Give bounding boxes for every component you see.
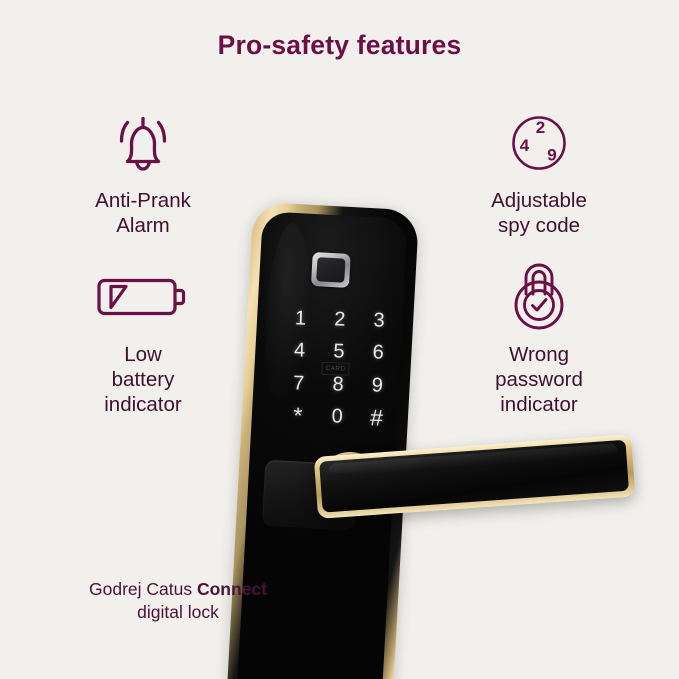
feature-label-adjustable-spy-code: Adjustable spy code <box>444 188 634 238</box>
spy-digit-left: 4 <box>520 136 530 155</box>
low-battery-icon <box>48 258 238 336</box>
key-4[interactable]: 4 <box>280 334 320 368</box>
feature-label-anti-prank-alarm: Anti-Prank Alarm <box>48 188 238 238</box>
product-brand-bold: Connect <box>197 579 267 599</box>
fingerprint-sensor[interactable] <box>311 252 351 288</box>
key-hash[interactable]: # <box>356 402 396 436</box>
product-feature-graphic: Pro-safety features Anti-Prank Alarm <box>0 0 679 679</box>
spy-digit-top: 2 <box>536 118 545 137</box>
feature-label-low-battery-indicator: Low battery indicator <box>48 342 238 417</box>
feature-adjustable-spy-code: 2 4 9 Adjustable spy code <box>444 104 634 238</box>
key-7[interactable]: 7 <box>279 367 319 401</box>
product-brand-line: Godrej Catus <box>89 579 197 599</box>
spy-digit-bottom-right: 9 <box>547 146 556 165</box>
key-0[interactable]: 0 <box>317 400 357 434</box>
key-1[interactable]: 1 <box>280 302 320 336</box>
bell-icon <box>48 104 238 182</box>
key-3[interactable]: 3 <box>359 304 399 338</box>
page-title: Pro-safety features <box>0 30 679 61</box>
padlock-check-icon <box>444 258 634 336</box>
spy-code-circle-icon: 2 4 9 <box>444 104 634 182</box>
product-caption: Godrej Catus Connect digital lock <box>38 578 318 624</box>
key-6[interactable]: 6 <box>358 337 398 371</box>
feature-wrong-password-indicator: Wrong password indicator <box>444 258 634 417</box>
feature-label-wrong-password-indicator: Wrong password indicator <box>444 342 634 417</box>
feature-anti-prank-alarm: Anti-Prank Alarm <box>48 104 238 238</box>
product-sub-line: digital lock <box>137 602 219 622</box>
feature-low-battery-indicator: Low battery indicator <box>48 258 238 417</box>
key-9[interactable]: 9 <box>357 369 397 403</box>
card-reader-label: CARD <box>321 362 349 376</box>
key-star[interactable]: * <box>278 399 318 433</box>
key-2[interactable]: 2 <box>320 303 360 337</box>
fingerprint-sensor-pad <box>316 257 345 282</box>
